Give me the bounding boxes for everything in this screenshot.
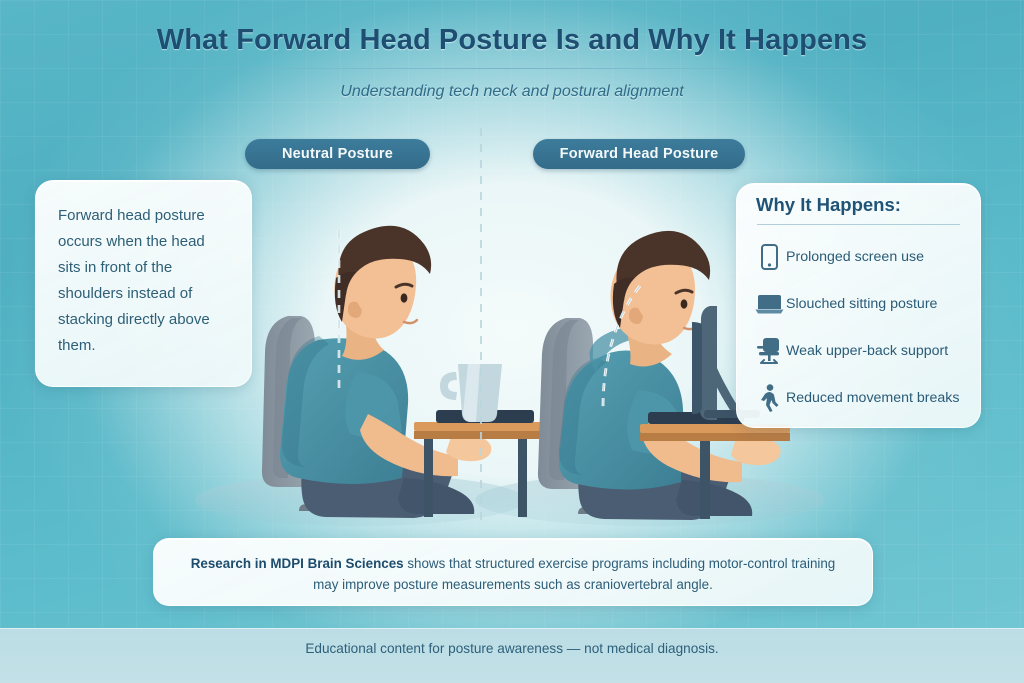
eye-right bbox=[681, 299, 688, 308]
research-note-text: Research in MDPI Brain Sciences shows th… bbox=[154, 539, 872, 595]
panel-divider bbox=[480, 128, 482, 528]
office-chair-icon bbox=[752, 337, 786, 365]
label-forward-head-posture: Forward Head Posture bbox=[533, 139, 745, 169]
eye-left bbox=[401, 293, 408, 302]
definition-text: Forward head posture occurs when the hea… bbox=[36, 181, 251, 359]
list-item: Reduced movement breaks bbox=[752, 374, 978, 421]
list-item: Slouched sitting posture bbox=[752, 280, 978, 327]
walking-person-icon bbox=[752, 384, 786, 412]
laptop-icon bbox=[752, 293, 786, 315]
page-title: What Forward Head Posture Is and Why It … bbox=[0, 24, 1024, 57]
hand-right bbox=[731, 438, 781, 466]
why-it-happens-list: Prolonged screen use Slouched sitting po… bbox=[752, 233, 978, 421]
title-divider bbox=[136, 68, 890, 69]
smartphone-icon bbox=[752, 244, 786, 270]
infographic-canvas: What Forward Head Posture Is and Why It … bbox=[0, 0, 1024, 683]
list-item: Weak upper-back support bbox=[752, 327, 978, 374]
figure-neutral-posture bbox=[262, 226, 491, 518]
list-item-label: Slouched sitting posture bbox=[786, 296, 937, 312]
research-note-card: Research in MDPI Brain Sciences shows th… bbox=[153, 538, 873, 606]
why-heading-divider bbox=[757, 224, 960, 225]
label-neutral-posture: Neutral Posture bbox=[245, 139, 430, 169]
list-item-label: Reduced movement breaks bbox=[786, 390, 960, 406]
research-note-source: Research in MDPI Brain Sciences bbox=[191, 556, 404, 571]
list-item-label: Weak upper-back support bbox=[786, 343, 948, 359]
page-subtitle: Understanding tech neck and postural ali… bbox=[0, 83, 1024, 101]
list-item-label: Prolonged screen use bbox=[786, 249, 924, 265]
why-it-happens-heading: Why It Happens: bbox=[756, 194, 901, 216]
list-item: Prolonged screen use bbox=[752, 233, 978, 280]
footer-disclaimer: Educational content for posture awarenes… bbox=[0, 641, 1024, 656]
definition-card: Forward head posture occurs when the hea… bbox=[35, 180, 252, 387]
